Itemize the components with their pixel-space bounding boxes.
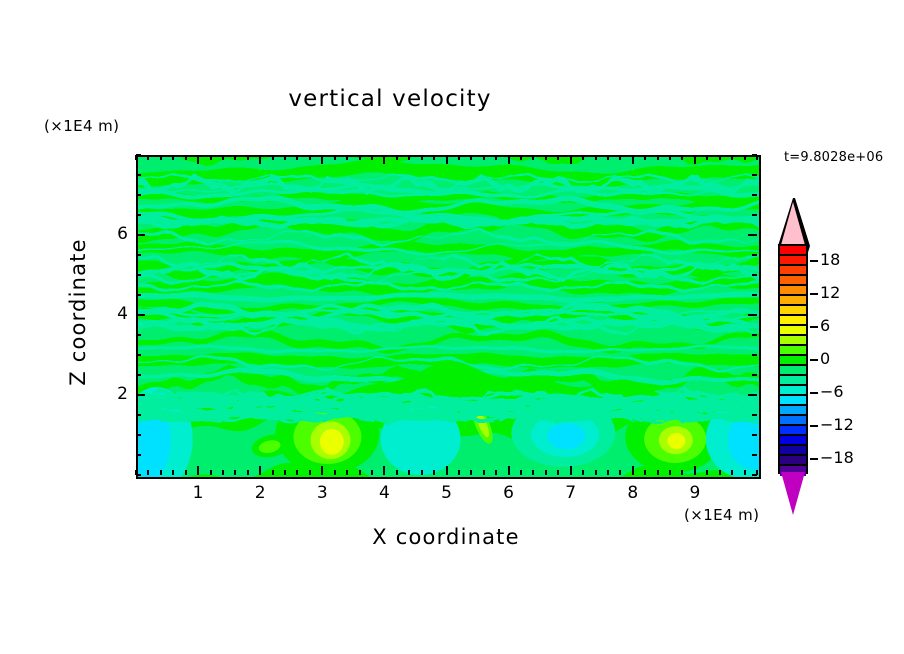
x-tick	[681, 470, 683, 475]
y-tick	[136, 234, 145, 236]
x-tick	[520, 470, 522, 475]
x-tick	[570, 466, 572, 475]
x-tick-top	[681, 155, 683, 160]
x-tick	[321, 466, 323, 475]
x-tick-top	[632, 155, 634, 164]
x-tick-top	[694, 155, 696, 164]
colorbar-tick-label: 6	[820, 316, 830, 335]
y-tick	[136, 154, 141, 156]
x-tick-top	[470, 155, 472, 160]
x-tick	[160, 470, 162, 475]
y-tick	[136, 434, 141, 436]
x-tick-top	[359, 155, 361, 160]
x-tick	[458, 470, 460, 475]
contour-field	[138, 157, 759, 477]
colorbar-tick-label: 12	[820, 283, 840, 302]
x-tick	[706, 470, 708, 475]
y-tick-right	[752, 454, 757, 456]
y-tick	[136, 274, 141, 276]
x-tick-top	[433, 155, 435, 160]
colorbar-band	[780, 256, 806, 266]
colorbar-band	[780, 446, 806, 456]
x-tick-top	[247, 155, 249, 160]
x-tick-top	[334, 155, 336, 160]
x-tick	[495, 470, 497, 475]
colorbar-band	[780, 306, 806, 316]
x-tick	[334, 470, 336, 475]
colorbar-band	[780, 326, 806, 336]
x-tick	[744, 470, 746, 475]
colorbar-tick	[810, 359, 818, 361]
x-tick	[508, 466, 510, 475]
x-tick-label: 7	[551, 483, 591, 503]
x-tick	[197, 466, 199, 475]
y-tick-label: 6	[88, 224, 128, 244]
y-tick	[136, 174, 141, 176]
colorbar-band	[780, 396, 806, 406]
x-tick-top	[744, 155, 746, 160]
x-tick-top	[147, 155, 149, 160]
colorbar-tick	[810, 425, 818, 427]
colorbar-band	[780, 316, 806, 326]
x-tick-top	[160, 155, 162, 160]
x-tick	[470, 470, 472, 475]
colorbar-over-cap	[781, 202, 805, 245]
x-tick-label: 8	[613, 483, 653, 503]
y-tick-right	[752, 414, 757, 416]
x-tick-top	[446, 155, 448, 164]
y-tick-right	[748, 234, 757, 236]
colorbar-band	[780, 356, 806, 366]
x-tick	[595, 470, 597, 475]
colorbar-tick-label: −6	[820, 382, 844, 401]
x-tick	[694, 466, 696, 475]
x-tick-label: 5	[427, 483, 467, 503]
y-tick-right	[752, 334, 757, 336]
y-tick-right	[748, 314, 757, 316]
x-tick	[234, 470, 236, 475]
colorbar-band	[780, 286, 806, 296]
x-tick-top	[272, 155, 274, 160]
colorbar-tick	[810, 392, 818, 394]
x-tick	[421, 470, 423, 475]
chart-title: vertical velocity	[0, 86, 780, 112]
x-tick-top	[222, 155, 224, 160]
x-tick	[446, 466, 448, 475]
colorbar-band	[780, 346, 806, 356]
colorbar-band	[780, 416, 806, 426]
x-tick	[247, 470, 249, 475]
x-tick-top	[532, 155, 534, 160]
contour-plot-area	[136, 155, 761, 479]
x-tick-top	[520, 155, 522, 160]
x-tick	[557, 470, 559, 475]
x-tick-top	[458, 155, 460, 160]
x-tick	[371, 470, 373, 475]
x-tick-top	[657, 155, 659, 160]
x-tick-top	[210, 155, 212, 160]
colorbar-band	[780, 366, 806, 376]
y-tick	[136, 294, 141, 296]
x-tick-label: 1	[178, 483, 218, 503]
x-tick-label: 2	[240, 483, 280, 503]
colorbar-band	[780, 456, 806, 466]
x-tick-top	[495, 155, 497, 160]
x-tick	[185, 470, 187, 475]
x-tick-top	[396, 155, 398, 160]
y-tick	[136, 394, 145, 396]
x-tick	[582, 470, 584, 475]
colorbar-band	[780, 276, 806, 286]
y-tick	[136, 214, 141, 216]
x-tick-top	[259, 155, 261, 164]
y-tick	[136, 194, 141, 196]
colorbar-tick-label: 0	[820, 349, 830, 368]
x-tick	[147, 470, 149, 475]
colorbar-tick-label: −12	[820, 415, 854, 434]
colorbar-band	[780, 376, 806, 386]
x-tick	[284, 470, 286, 475]
y-tick-right	[752, 354, 757, 356]
y-tick	[136, 334, 141, 336]
y-tick-right	[752, 254, 757, 256]
x-axis-title: X coordinate	[236, 525, 656, 549]
y-tick-right	[752, 194, 757, 196]
x-tick-top	[619, 155, 621, 160]
x-tick-top	[296, 155, 298, 160]
x-tick	[383, 466, 385, 475]
y-tick	[136, 414, 141, 416]
x-axis-units-label: (×1E4 m)	[684, 506, 759, 524]
x-tick	[607, 470, 609, 475]
y-tick-right	[752, 434, 757, 436]
x-tick	[532, 470, 534, 475]
x-tick	[433, 470, 435, 475]
colorbar-band	[780, 336, 806, 346]
y-tick-right	[752, 374, 757, 376]
colorbar-band	[780, 406, 806, 416]
x-tick	[408, 470, 410, 475]
x-tick-label: 3	[302, 483, 342, 503]
colorbar-tick	[810, 260, 818, 262]
x-tick	[272, 470, 274, 475]
colorbar-bands	[778, 244, 808, 474]
x-tick	[172, 470, 174, 475]
colorbar: 181260−6−12−18	[778, 198, 810, 520]
y-tick-right	[752, 174, 757, 176]
x-tick-top	[346, 155, 348, 160]
x-tick-label: 6	[489, 483, 529, 503]
colorbar-tick-label: 18	[820, 250, 840, 269]
colorbar-tick	[810, 458, 818, 460]
x-tick	[309, 470, 311, 475]
x-tick-top	[545, 155, 547, 160]
x-tick-top	[644, 155, 646, 160]
y-tick-label: 4	[88, 304, 128, 324]
y-tick-right	[748, 394, 757, 396]
y-tick	[136, 354, 141, 356]
colorbar-tick	[810, 326, 818, 328]
x-tick-label: 9	[675, 483, 715, 503]
colorbar-band	[780, 266, 806, 276]
y-tick	[136, 314, 145, 316]
x-tick-top	[234, 155, 236, 160]
y-tick-right	[752, 214, 757, 216]
x-tick-top	[595, 155, 597, 160]
colorbar-under-cap	[781, 472, 805, 515]
y-tick-right	[752, 274, 757, 276]
y-tick	[136, 254, 141, 256]
x-tick-top	[508, 155, 510, 164]
z-axis-title: Z coordinate	[66, 212, 90, 412]
x-tick-top	[570, 155, 572, 164]
colorbar-tick-label: −18	[820, 448, 854, 467]
x-tick-top	[371, 155, 373, 160]
y-tick-right	[752, 474, 757, 476]
colorbar-band	[780, 296, 806, 306]
colorbar-tick	[810, 293, 818, 295]
x-tick-top	[557, 155, 559, 160]
x-tick-top	[197, 155, 199, 164]
x-tick	[669, 470, 671, 475]
timestamp-label: t=9.8028e+06	[784, 150, 883, 165]
colorbar-band	[780, 386, 806, 396]
x-tick-top	[731, 155, 733, 160]
x-tick-top	[483, 155, 485, 160]
x-tick-top	[669, 155, 671, 160]
x-tick	[644, 470, 646, 475]
x-tick-top	[321, 155, 323, 164]
x-tick-top	[309, 155, 311, 160]
z-axis-units-label: (×1E4 m)	[44, 117, 119, 135]
x-tick-label: 4	[364, 483, 404, 503]
x-tick	[632, 466, 634, 475]
colorbar-band	[780, 426, 806, 436]
x-tick	[259, 466, 261, 475]
x-tick-top	[719, 155, 721, 160]
x-tick-top	[383, 155, 385, 164]
y-tick	[136, 474, 141, 476]
x-tick	[359, 470, 361, 475]
x-tick	[545, 470, 547, 475]
y-tick-label: 2	[88, 384, 128, 404]
x-tick-top	[172, 155, 174, 160]
x-tick-top	[582, 155, 584, 160]
x-tick-top	[607, 155, 609, 160]
y-tick	[136, 374, 141, 376]
y-tick-right	[752, 294, 757, 296]
colorbar-band	[780, 436, 806, 446]
x-tick-top	[706, 155, 708, 160]
x-tick	[210, 470, 212, 475]
y-tick	[136, 454, 141, 456]
x-tick	[731, 470, 733, 475]
x-tick	[719, 470, 721, 475]
x-tick-top	[421, 155, 423, 160]
x-tick	[296, 470, 298, 475]
x-tick-top	[284, 155, 286, 160]
x-tick	[619, 470, 621, 475]
x-tick-top	[185, 155, 187, 160]
x-tick	[222, 470, 224, 475]
x-tick	[346, 470, 348, 475]
x-tick	[396, 470, 398, 475]
x-tick	[657, 470, 659, 475]
x-tick-top	[408, 155, 410, 160]
x-tick	[483, 470, 485, 475]
colorbar-band	[780, 246, 806, 256]
y-tick-right	[752, 154, 757, 156]
